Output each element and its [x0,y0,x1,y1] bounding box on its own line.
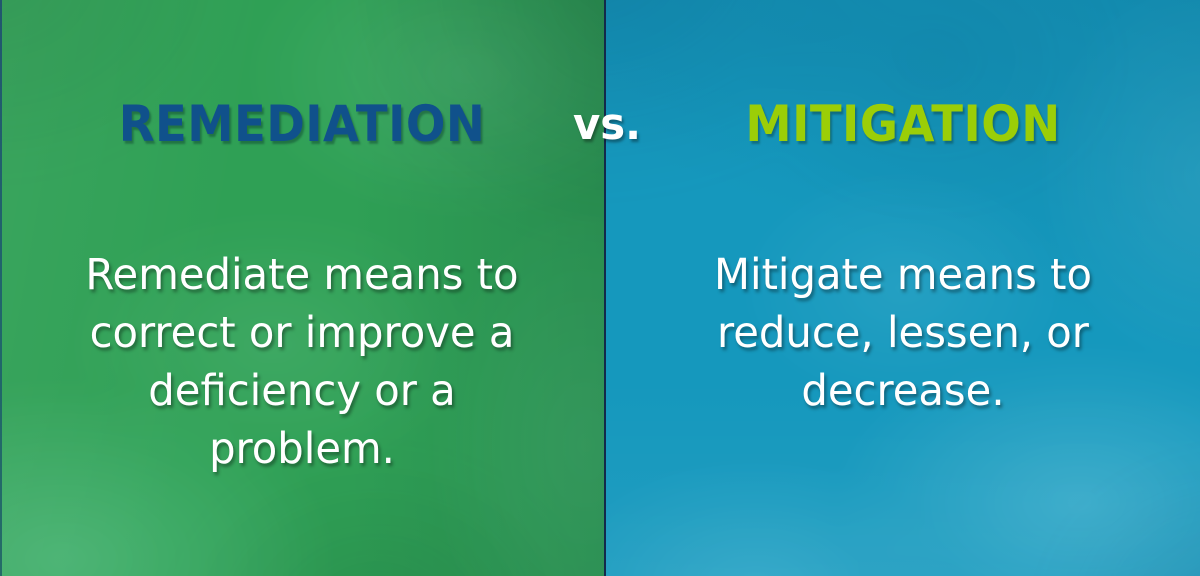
comparison-graphic: REMEDIATION vs. MITIGATION Remediate mea… [0,0,1200,576]
versus-separator-label: vs. [548,103,666,147]
term-title-mitigation: MITIGATION [627,99,1179,149]
term-title-remediation: REMEDIATION [21,99,583,149]
panel-divider [604,0,606,576]
definition-text-mitigation: Mitigate means to reduce, lessen, or dec… [673,246,1133,420]
left-edge-stripe [0,0,2,576]
definition-text-remediation: Remediate means to correct or improve a … [60,246,545,478]
